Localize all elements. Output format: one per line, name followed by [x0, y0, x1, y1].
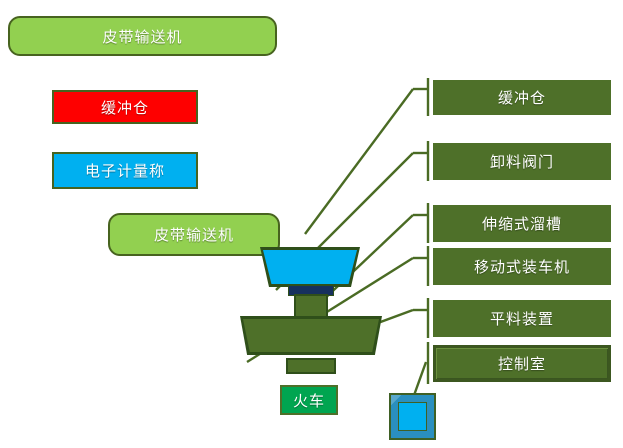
control-room-bevel	[391, 395, 434, 438]
legend-belt-conveyor-top[interactable]: 皮带输送机	[8, 16, 277, 56]
legend-label: 电子计量称	[85, 160, 165, 181]
leader-line-buffer-bin	[305, 89, 413, 234]
callout-label: 平料装置	[490, 308, 554, 329]
callout-mobile-loader[interactable]: 移动式装车机	[433, 248, 611, 285]
callout-leveling-device[interactable]: 平料装置	[433, 300, 611, 337]
mobile-loader-hopper	[243, 319, 379, 352]
callout-control-room[interactable]: 控制室	[433, 345, 611, 382]
callout-buffer-bin[interactable]: 缓冲仓	[433, 80, 611, 115]
electronic-scale-hopper	[263, 250, 357, 284]
legend-belt-conveyor-mid[interactable]: 皮带输送机	[108, 213, 280, 256]
control-room-box[interactable]	[389, 393, 436, 440]
callout-label: 移动式装车机	[474, 256, 570, 277]
callout-label: 缓冲仓	[498, 87, 546, 108]
legend-electronic-scale[interactable]: 电子计量称	[52, 152, 198, 189]
legend-label: 缓冲仓	[101, 97, 149, 118]
callout-label: 伸缩式溜槽	[482, 213, 562, 234]
legend-buffer-bin[interactable]: 缓冲仓	[52, 90, 198, 124]
legend-label: 皮带输送机	[102, 26, 182, 47]
diagram-canvas: 皮带输送机 缓冲仓 电子计量称 皮带输送机 火车 缓冲仓 卸料阀门 伸缩式溜槽 …	[0, 0, 623, 448]
callout-discharge-valve[interactable]: 卸料阀门	[433, 143, 611, 180]
legend-label: 皮带输送机	[154, 224, 234, 245]
train-label: 火车	[293, 390, 325, 411]
leveling-device-spout	[286, 358, 336, 374]
callout-label: 卸料阀门	[490, 151, 554, 172]
callout-telescopic-chute[interactable]: 伸缩式溜槽	[433, 205, 611, 242]
callout-label: 控制室	[498, 353, 546, 374]
train-box[interactable]: 火车	[280, 385, 338, 415]
